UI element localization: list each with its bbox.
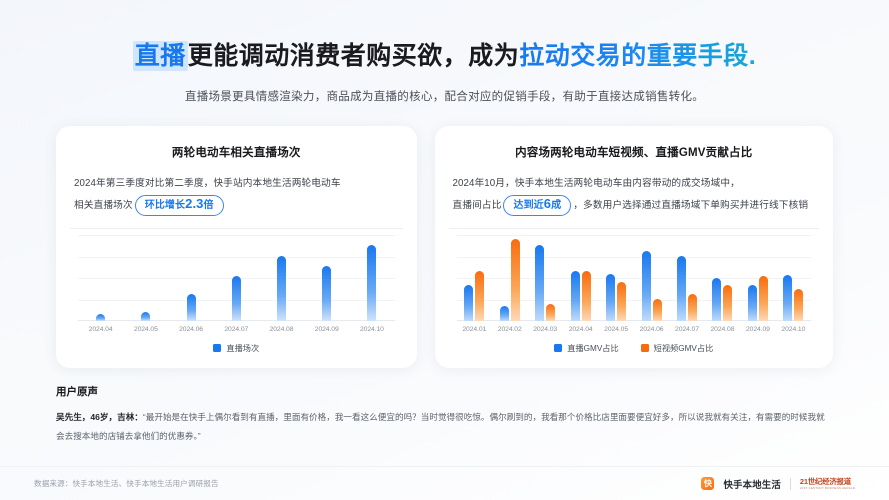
bar: [723, 285, 732, 321]
bar: [232, 276, 241, 321]
testimonial-speaker: 吴先生，46岁，吉林：: [56, 412, 143, 422]
bar: [475, 271, 484, 321]
chart-left-legend: 直播场次: [74, 342, 399, 358]
legend-swatch-icon: [641, 344, 649, 352]
bar-group: [349, 235, 394, 321]
legend-label: 直播场次: [226, 342, 259, 354]
brand-divider: [790, 478, 791, 490]
chart-left-plot: [78, 235, 395, 321]
legend-item[interactable]: 短视频GMV占比: [641, 342, 714, 354]
bar: [500, 306, 509, 321]
legend-item[interactable]: 直播GMV占比: [554, 342, 618, 354]
x-tick-label: 2024.06: [168, 326, 213, 333]
bar: [759, 276, 768, 321]
media-logo-subtitle: 21ST CENTURY BUSINESS HERALD: [800, 487, 855, 490]
kuaishou-brand-name: 快手本地生活: [723, 477, 780, 491]
bar-group: [705, 235, 740, 321]
card-left-title: 两轮电动车相关直播场次: [74, 144, 399, 160]
bar: [571, 271, 580, 321]
x-tick-label: 2024.04: [563, 326, 598, 333]
bar-group: [259, 235, 304, 321]
bar-group: [78, 235, 123, 321]
x-tick-label: 2024.02: [492, 326, 527, 333]
bar-group: [123, 235, 168, 321]
bar: [187, 294, 196, 322]
legend-label: 短视频GMV占比: [654, 342, 714, 354]
badge-growth-suffix: 倍: [204, 200, 214, 211]
chart-right-plot: [457, 235, 811, 321]
bar-group: [527, 235, 562, 321]
bar: [464, 285, 473, 321]
bar-group: [214, 235, 259, 321]
media-logo: 21世纪经济报道 21ST CENTURY BUSINESS HERALD: [800, 478, 855, 490]
x-tick-label: 2024.05: [598, 326, 633, 333]
badge-share: 达到近6成: [503, 195, 571, 216]
bar: [677, 256, 686, 321]
card-right-desc-line2b: ，多数用户选择通过直播场域下单购买并进行线下核销: [573, 200, 808, 211]
bar-group: [598, 235, 633, 321]
x-tick-label: 2024.01: [457, 326, 492, 333]
bar-group: [457, 235, 492, 321]
x-tick-label: 2024.09: [304, 326, 349, 333]
legend-item[interactable]: 直播场次: [213, 342, 259, 354]
slide-root: 直播更能调动消费者购买欲，成为拉动交易的重要手段. 直播场景更具情感渲染力，商品…: [0, 0, 889, 500]
x-tick-label: 2024.07: [214, 326, 259, 333]
badge-share-suffix: 成: [551, 200, 561, 211]
x-tick-label: 2024.08: [259, 326, 304, 333]
card-live-sessions: 两轮电动车相关直播场次 2024年第三季度对比第二季度，快手站内本地生活两轮电动…: [56, 126, 417, 368]
card-right-desc-line2a: 直播间占比: [453, 200, 502, 211]
media-logo-name: 21世纪经济报道: [800, 478, 855, 485]
page-title: 直播更能调动消费者购买欲，成为拉动交易的重要手段.: [0, 0, 889, 72]
bar: [582, 271, 591, 321]
bar: [511, 239, 520, 321]
bar: [535, 245, 544, 321]
chart-right-legend: 直播GMV占比短视频GMV占比: [453, 342, 815, 358]
bar: [606, 274, 615, 321]
data-source-note: 数据来源：快手本地生活、快手本地生活用户调研报告: [34, 478, 219, 489]
card-left-description: 2024年第三季度对比第二季度，快手站内本地生活两轮电动车 相关直播场次环比增长…: [74, 173, 399, 217]
bar-group: [563, 235, 598, 321]
title-middle: 更能调动消费者购买欲，成为: [188, 42, 520, 70]
x-tick-label: 2024.07: [669, 326, 704, 333]
title-highlight-box: 直播: [133, 41, 188, 71]
legend-swatch-icon: [213, 344, 221, 352]
testimonial-quote: “最开始是在快手上偶尔看到有直播，里面有价格，我一看这么便宜的吗？当时觉得很吃惊…: [56, 412, 825, 441]
legend-swatch-icon: [554, 344, 562, 352]
bar: [277, 256, 286, 321]
card-left-desc-line1: 2024年第三季度对比第二季度，快手站内本地生活两轮电动车: [74, 178, 341, 189]
x-tick-label: 2024.09: [740, 326, 775, 333]
title-highlight-blue: 拉动交易的重要手段.: [519, 42, 756, 70]
bar: [322, 266, 331, 321]
bar: [96, 314, 105, 321]
chart-gmv-share: 2024.012024.022024.032024.042024.052024.…: [453, 229, 815, 358]
chart-right-bars: [457, 235, 811, 321]
badge-share-prefix: 达到近: [513, 200, 543, 211]
bar: [783, 275, 792, 321]
bar: [617, 282, 626, 321]
testimonial-body: 吴先生，46岁，吉林：“最开始是在快手上偶尔看到有直播，里面有价格，我一看这么便…: [56, 408, 833, 446]
x-tick-label: 2024.06: [634, 326, 669, 333]
card-gmv-share: 内容场两轮电动车短视频、直播GMV贡献占比 2024年10月，快手本地生活两轮电…: [435, 126, 833, 368]
bar: [546, 304, 555, 321]
card-right-title: 内容场两轮电动车短视频、直播GMV贡献占比: [453, 144, 815, 160]
bar: [748, 285, 757, 321]
bar: [688, 294, 697, 322]
cards-row: 两轮电动车相关直播场次 2024年第三季度对比第二季度，快手站内本地生活两轮电动…: [0, 126, 889, 368]
bar: [367, 245, 376, 321]
bar-group: [776, 235, 811, 321]
testimonial-heading: 用户原声: [56, 384, 833, 399]
bar-group: [168, 235, 213, 321]
bar-group: [634, 235, 669, 321]
chart-left-x-labels: 2024.042024.052024.062024.072024.082024.…: [78, 326, 395, 333]
x-tick-label: 2024.10: [349, 326, 394, 333]
badge-growth-value: 2.3: [185, 196, 203, 211]
legend-label: 直播GMV占比: [567, 342, 618, 354]
page-subtitle: 直播场景更具情感渲染力，商品成为直播的核心，配合对应的促销手段，有助于直接达成销…: [0, 88, 889, 104]
bar: [653, 299, 662, 321]
x-tick-label: 2024.10: [776, 326, 811, 333]
testimonial-section: 用户原声 吴先生，46岁，吉林：“最开始是在快手上偶尔看到有直播，里面有价格，我…: [56, 384, 833, 446]
bar-group: [492, 235, 527, 321]
chart-live-sessions: 2024.042024.052024.062024.072024.082024.…: [74, 229, 399, 358]
bar: [794, 289, 803, 321]
brand-logos: 快 快手本地生活 21世纪经济报道 21ST CENTURY BUSINESS …: [701, 477, 855, 491]
bar: [642, 251, 651, 321]
badge-growth: 环比增长2.3倍: [135, 195, 224, 216]
page-footer: 数据来源：快手本地生活、快手本地生活用户调研报告 快 快手本地生活 21世纪经济…: [0, 466, 889, 500]
x-tick-label: 2024.08: [705, 326, 740, 333]
kuaishou-logo-glyph: 快: [704, 478, 712, 489]
bar-group: [669, 235, 704, 321]
chart-left-bars: [78, 235, 395, 321]
card-right-desc-line1: 2024年10月，快手本地生活两轮电动车由内容带动的成交场域中，: [453, 178, 740, 189]
bar-group: [304, 235, 349, 321]
chart-right-x-labels: 2024.012024.022024.032024.042024.052024.…: [457, 326, 811, 333]
x-tick-label: 2024.04: [78, 326, 123, 333]
card-left-desc-line2: 相关直播场次: [74, 200, 133, 211]
kuaishou-logo-icon: 快: [701, 477, 714, 490]
bar: [141, 312, 150, 321]
bar-group: [740, 235, 775, 321]
card-right-description: 2024年10月，快手本地生活两轮电动车由内容带动的成交场域中， 直播间占比达到…: [453, 173, 815, 217]
x-tick-label: 2024.05: [123, 326, 168, 333]
bar: [712, 278, 721, 321]
x-tick-label: 2024.03: [527, 326, 562, 333]
badge-growth-prefix: 环比增长: [145, 200, 185, 211]
